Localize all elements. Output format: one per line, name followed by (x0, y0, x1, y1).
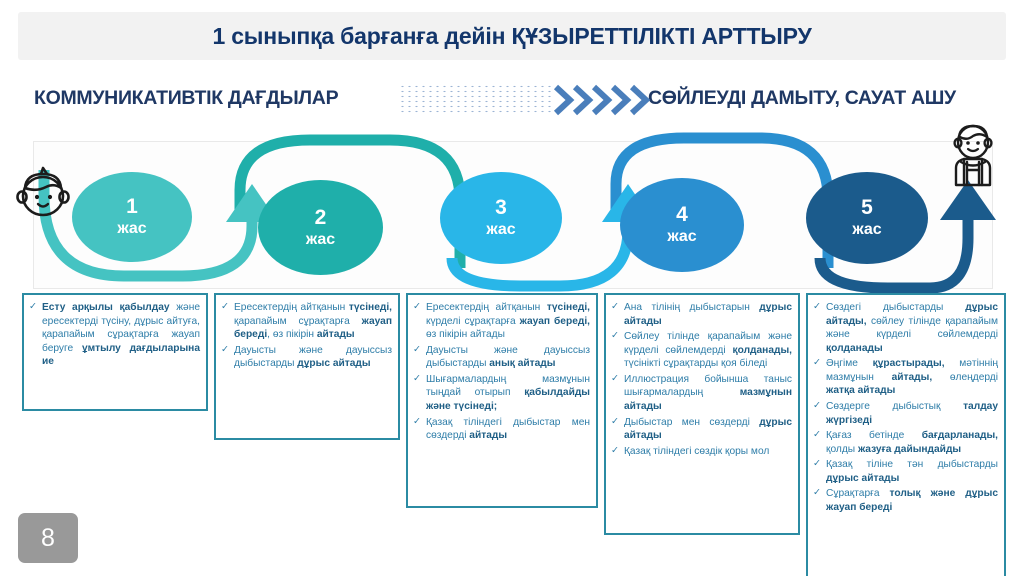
stage-unit: жас (852, 222, 881, 239)
competency-item: Қағаз бетінде бағдарланады, қолды жазуға… (813, 429, 998, 456)
competency-list: Ана тілінің дыбыстарын дұрыс айтадыСөйле… (611, 301, 792, 458)
competency-box-2: Ересектердің айтқанын түсінеді, қарапайы… (214, 293, 400, 440)
competency-item: Сөздерге дыбыстық талдау жүргізеді (813, 400, 998, 427)
baby-face-icon (12, 166, 74, 224)
page-number-badge: 8 (18, 513, 78, 563)
competency-list: Ересектердің айтқанын түсінеді, күрделі … (413, 301, 590, 443)
competency-list: Ересектердің айтқанын түсінеді, қарапайы… (221, 301, 392, 371)
stage-unit: жас (306, 232, 335, 249)
competency-item: Қазақ тіліндегі сөздік қоры мол (611, 445, 792, 459)
subtitle-right: СӨЙЛЕУДІ ДАМЫТУ, САУАТ АШУ (648, 76, 956, 120)
stage-number: 3 (495, 197, 507, 219)
competency-item: Ана тілінің дыбыстарын дұрыс айтады (611, 301, 792, 328)
competency-box-1: Есту арқылы қабылдау және ересектерді тү… (22, 293, 208, 411)
slide-canvas: 1 сыныпқа барғанға дейін ҚҰЗЫРЕТТІЛІКТІ … (0, 0, 1024, 576)
dotted-grid-decoration (399, 84, 554, 115)
competency-item: Ересектердің айтқанын түсінеді, күрделі … (413, 301, 590, 342)
stage-circle-5[interactable]: 5 жас (806, 172, 928, 264)
stage-number: 4 (676, 204, 688, 226)
competency-box-4: Ана тілінің дыбыстарын дұрыс айтадыСөйле… (604, 293, 800, 535)
schoolboy-backpack-icon (940, 122, 1006, 188)
competency-item: Иллюстрация бойынша таныс шығармалардың … (611, 373, 792, 414)
competency-item: Дыбыстар мен сөздерді дұрыс айтады (611, 416, 792, 443)
competency-item: Қазақ тіліндегі дыбыстар мен сөздерді ай… (413, 416, 590, 443)
stage-circle-3[interactable]: 3 жас (440, 172, 562, 264)
stage-unit: жас (486, 222, 515, 239)
competency-item: Дауысты және дауыссыз дыбыстарды дұрыс а… (221, 344, 392, 371)
title-banner: 1 сыныпқа барғанға дейін ҚҰЗЫРЕТТІЛІКТІ … (18, 12, 1006, 60)
page-title: 1 сыныпқа барғанға дейін ҚҰЗЫРЕТТІЛІКТІ … (18, 12, 1006, 60)
competency-item: Қазақ тіліне тән дыбыстарды дұрыс айтады (813, 458, 998, 485)
competency-item: Әңгіме құрастырады, мәтіннің мазмұнын ай… (813, 357, 998, 398)
competency-list: Есту арқылы қабылдау және ересектерді тү… (29, 301, 200, 369)
stage-number: 5 (861, 197, 873, 219)
competency-item: Есту арқылы қабылдау және ересектерді тү… (29, 301, 200, 369)
chevron-arrows-icon (552, 80, 652, 120)
stage-unit: жас (667, 229, 696, 246)
page-number: 8 (41, 524, 55, 553)
competency-box-5: Сөздегі дыбыстарды дұрыс айтады, сөйлеу … (806, 293, 1006, 576)
competency-item: Ересектердің айтқанын түсінеді, қарапайы… (221, 301, 392, 342)
stage-number: 1 (126, 196, 138, 218)
stage-circle-2[interactable]: 2 жас (258, 180, 383, 275)
competency-item: Сөйлеу тілінде қарапайым және күрделі сө… (611, 330, 792, 371)
competency-item: Сұрақтарға толық және дұрыс жауап береді (813, 487, 998, 514)
stage-number: 2 (315, 207, 327, 229)
stage-unit: жас (117, 221, 146, 238)
stage-circle-4[interactable]: 4 жас (620, 178, 744, 272)
subtitle-left: КОММУНИКАТИВТІК ДАҒДЫЛАР (34, 76, 338, 120)
competency-item: Сөздегі дыбыстарды дұрыс айтады, сөйлеу … (813, 301, 998, 355)
stage-circle-1[interactable]: 1 жас (72, 172, 192, 262)
competency-box-3: Ересектердің айтқанын түсінеді, күрделі … (406, 293, 598, 508)
competency-item: Шығармалардың мазмұнын тыңдай отырып қаб… (413, 373, 590, 414)
competency-list: Сөздегі дыбыстарды дұрыс айтады, сөйлеу … (813, 301, 998, 514)
competency-item: Дауысты және дауыссыз дыбыстарды анық ай… (413, 344, 590, 371)
